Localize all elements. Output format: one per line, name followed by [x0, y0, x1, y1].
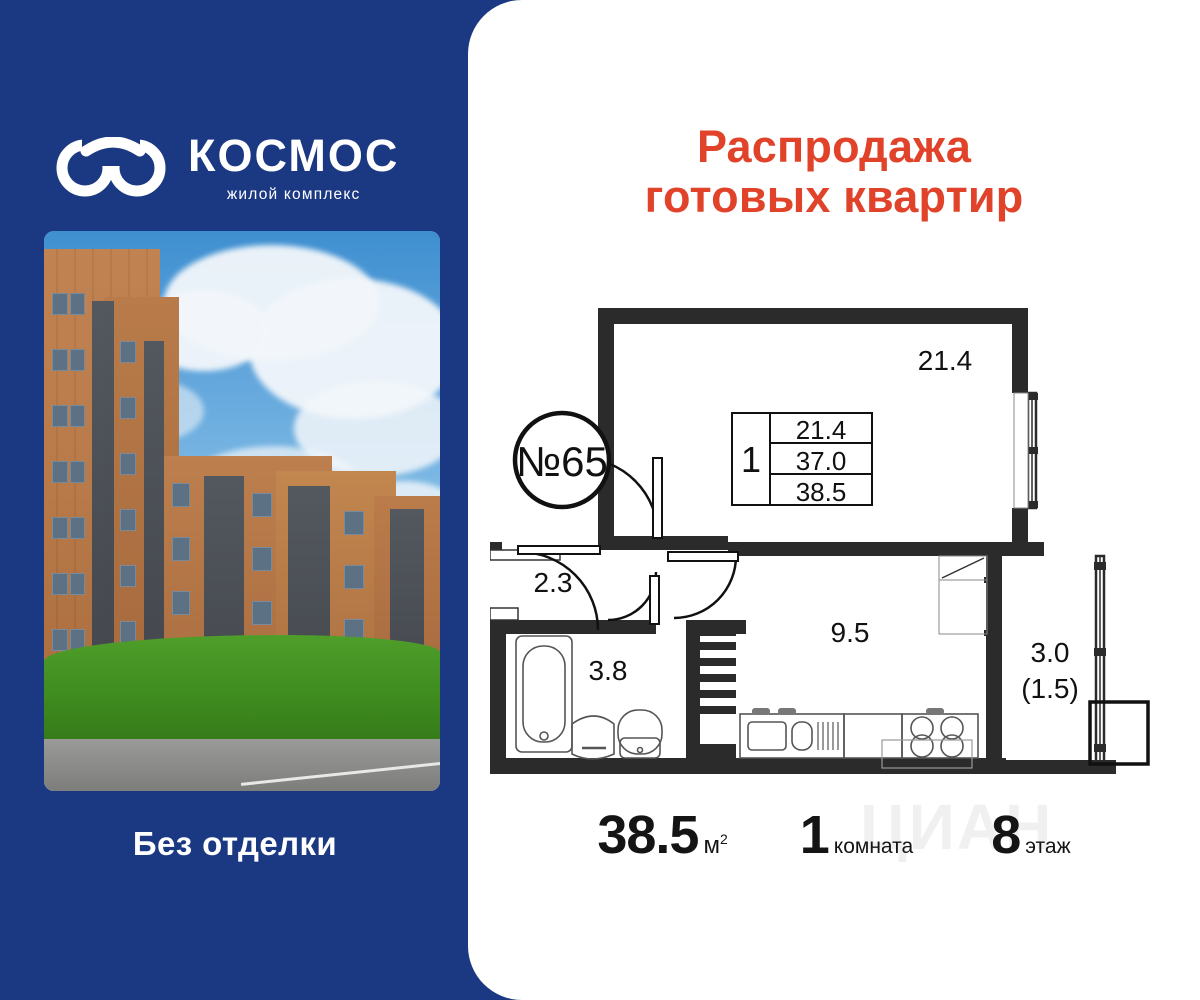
window: [172, 591, 190, 615]
window: [70, 517, 85, 539]
window: [172, 537, 190, 561]
summary-row: 38.5 м2 1 комната 8 этаж: [468, 808, 1200, 888]
window: [120, 397, 136, 419]
floor-plan-drawing: №65 1 21.4 37.0 38.5 21.4 2.3 3.8 9.5 3.…: [490, 290, 1180, 790]
window: [252, 493, 272, 517]
brand-name: КОСМОС: [188, 133, 399, 178]
window: [70, 573, 85, 595]
window: [52, 573, 68, 595]
page-title: Распродажа готовых квартир: [468, 122, 1200, 223]
window: [70, 293, 85, 315]
label-hallway: 2.3: [534, 567, 573, 598]
apartment-number-badge: №65: [515, 413, 609, 507]
window: [344, 565, 364, 589]
window: [252, 601, 272, 625]
window: [52, 349, 68, 371]
window: [70, 405, 85, 427]
svg-text:№65: №65: [516, 438, 608, 485]
window: [70, 349, 85, 371]
label-kitchen: 9.5: [831, 617, 870, 648]
summary-area: 38.5 м2: [597, 808, 727, 862]
window: [120, 565, 136, 587]
label-bathroom: 3.8: [589, 655, 628, 686]
summary-rooms: 1 комната: [800, 808, 913, 862]
bathtub-icon: [516, 636, 572, 752]
infinity-icon: [52, 137, 170, 199]
window: [172, 483, 190, 507]
summary-floor-unit: этаж: [1025, 835, 1070, 859]
window: [344, 511, 364, 535]
floor-plan: №65 1 21.4 37.0 38.5 21.4 2.3 3.8 9.5 3.…: [490, 290, 1180, 790]
headline-line-1: Распродажа: [468, 122, 1200, 172]
svg-text:21.4: 21.4: [796, 415, 847, 445]
summary-rooms-unit: комната: [834, 835, 913, 859]
building-photo: [44, 231, 440, 791]
label-balcony: 3.0: [1031, 637, 1070, 668]
finish-type-label: Без отделки: [0, 825, 470, 863]
brand-logo: КОСМОС жилой комплекс: [52, 122, 442, 214]
window: [52, 461, 68, 483]
summary-area-value: 38.5: [597, 808, 698, 862]
summary-rooms-value: 1: [800, 808, 829, 862]
window: [120, 621, 136, 643]
window: [252, 547, 272, 571]
plan-walls: [490, 308, 1116, 774]
plan-info-table: 1 21.4 37.0 38.5: [732, 413, 872, 507]
window: [120, 453, 136, 475]
plan-fixtures: [516, 636, 978, 768]
svg-text:38.5: 38.5: [796, 477, 847, 507]
window: [52, 629, 68, 651]
left-brand-panel: КОСМОС жилой комплекс: [0, 0, 470, 1000]
summary-floor-value: 8: [991, 808, 1020, 862]
headline-line-2: готовых квартир: [468, 172, 1200, 222]
window: [120, 341, 136, 363]
svg-text:37.0: 37.0: [796, 446, 847, 476]
brand-tagline: жилой комплекс: [227, 187, 361, 203]
svg-text:1: 1: [741, 439, 761, 480]
window: [52, 517, 68, 539]
summary-floor: 8 этаж: [991, 808, 1070, 862]
lawn: [44, 635, 440, 745]
washbasin-icon: [572, 716, 614, 759]
summary-area-unit: м2: [703, 831, 727, 860]
label-balcony-coefficient: (1.5): [1021, 673, 1079, 704]
offer-card: Распродажа готовых квартир: [468, 0, 1200, 1000]
window: [120, 509, 136, 531]
window: [70, 461, 85, 483]
window: [52, 293, 68, 315]
label-living-room: 21.4: [918, 345, 973, 376]
window: [52, 405, 68, 427]
